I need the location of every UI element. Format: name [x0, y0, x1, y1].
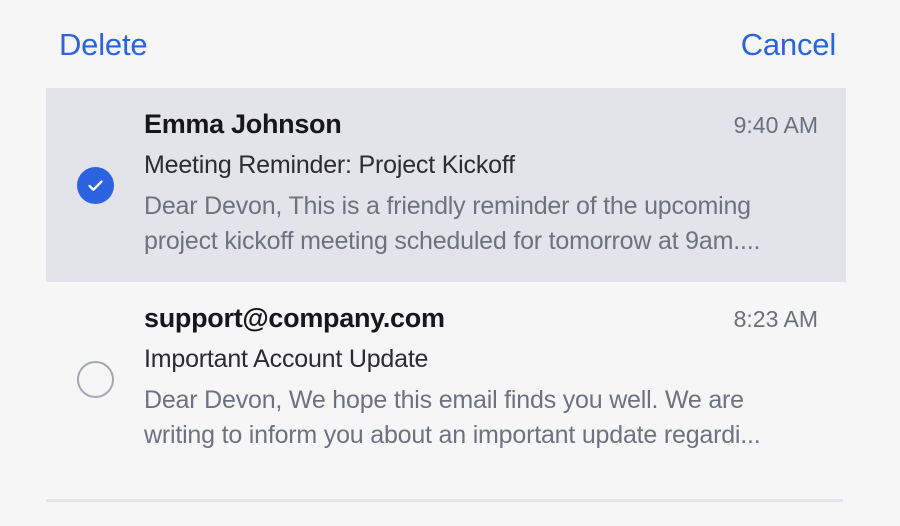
email-preview: Dear Devon, This is a friendly reminder …	[144, 189, 789, 260]
check-circle-filled-icon[interactable]	[77, 167, 114, 204]
selection-checkbox-cell[interactable]	[46, 165, 144, 204]
email-sender: Emma Johnson	[144, 108, 341, 141]
email-list-item[interactable]: support@company.com 8:23 AM Important Ac…	[46, 282, 846, 476]
email-list: Emma Johnson 9:40 AM Meeting Reminder: P…	[0, 88, 900, 476]
list-divider	[46, 499, 843, 502]
email-header-row: Emma Johnson 9:40 AM	[144, 108, 818, 141]
cancel-button[interactable]: Cancel	[741, 29, 836, 60]
email-content: Emma Johnson 9:40 AM Meeting Reminder: P…	[144, 88, 846, 282]
email-timestamp: 8:23 AM	[734, 305, 818, 333]
selection-checkbox-cell[interactable]	[46, 359, 144, 398]
email-list-item[interactable]: Emma Johnson 9:40 AM Meeting Reminder: P…	[46, 88, 846, 282]
email-subject: Meeting Reminder: Project Kickoff	[144, 150, 818, 180]
email-selection-screen: Delete Cancel Emma Johnson 9:40 AM Meeti…	[0, 0, 900, 526]
action-bar: Delete Cancel	[0, 0, 900, 88]
email-sender: support@company.com	[144, 302, 445, 335]
email-preview: Dear Devon, We hope this email finds you…	[144, 383, 789, 454]
delete-button[interactable]: Delete	[59, 29, 147, 60]
circle-outline-icon[interactable]	[77, 361, 114, 398]
email-timestamp: 9:40 AM	[734, 111, 818, 139]
email-subject: Important Account Update	[144, 344, 818, 374]
email-header-row: support@company.com 8:23 AM	[144, 302, 818, 335]
email-content: support@company.com 8:23 AM Important Ac…	[144, 282, 846, 476]
